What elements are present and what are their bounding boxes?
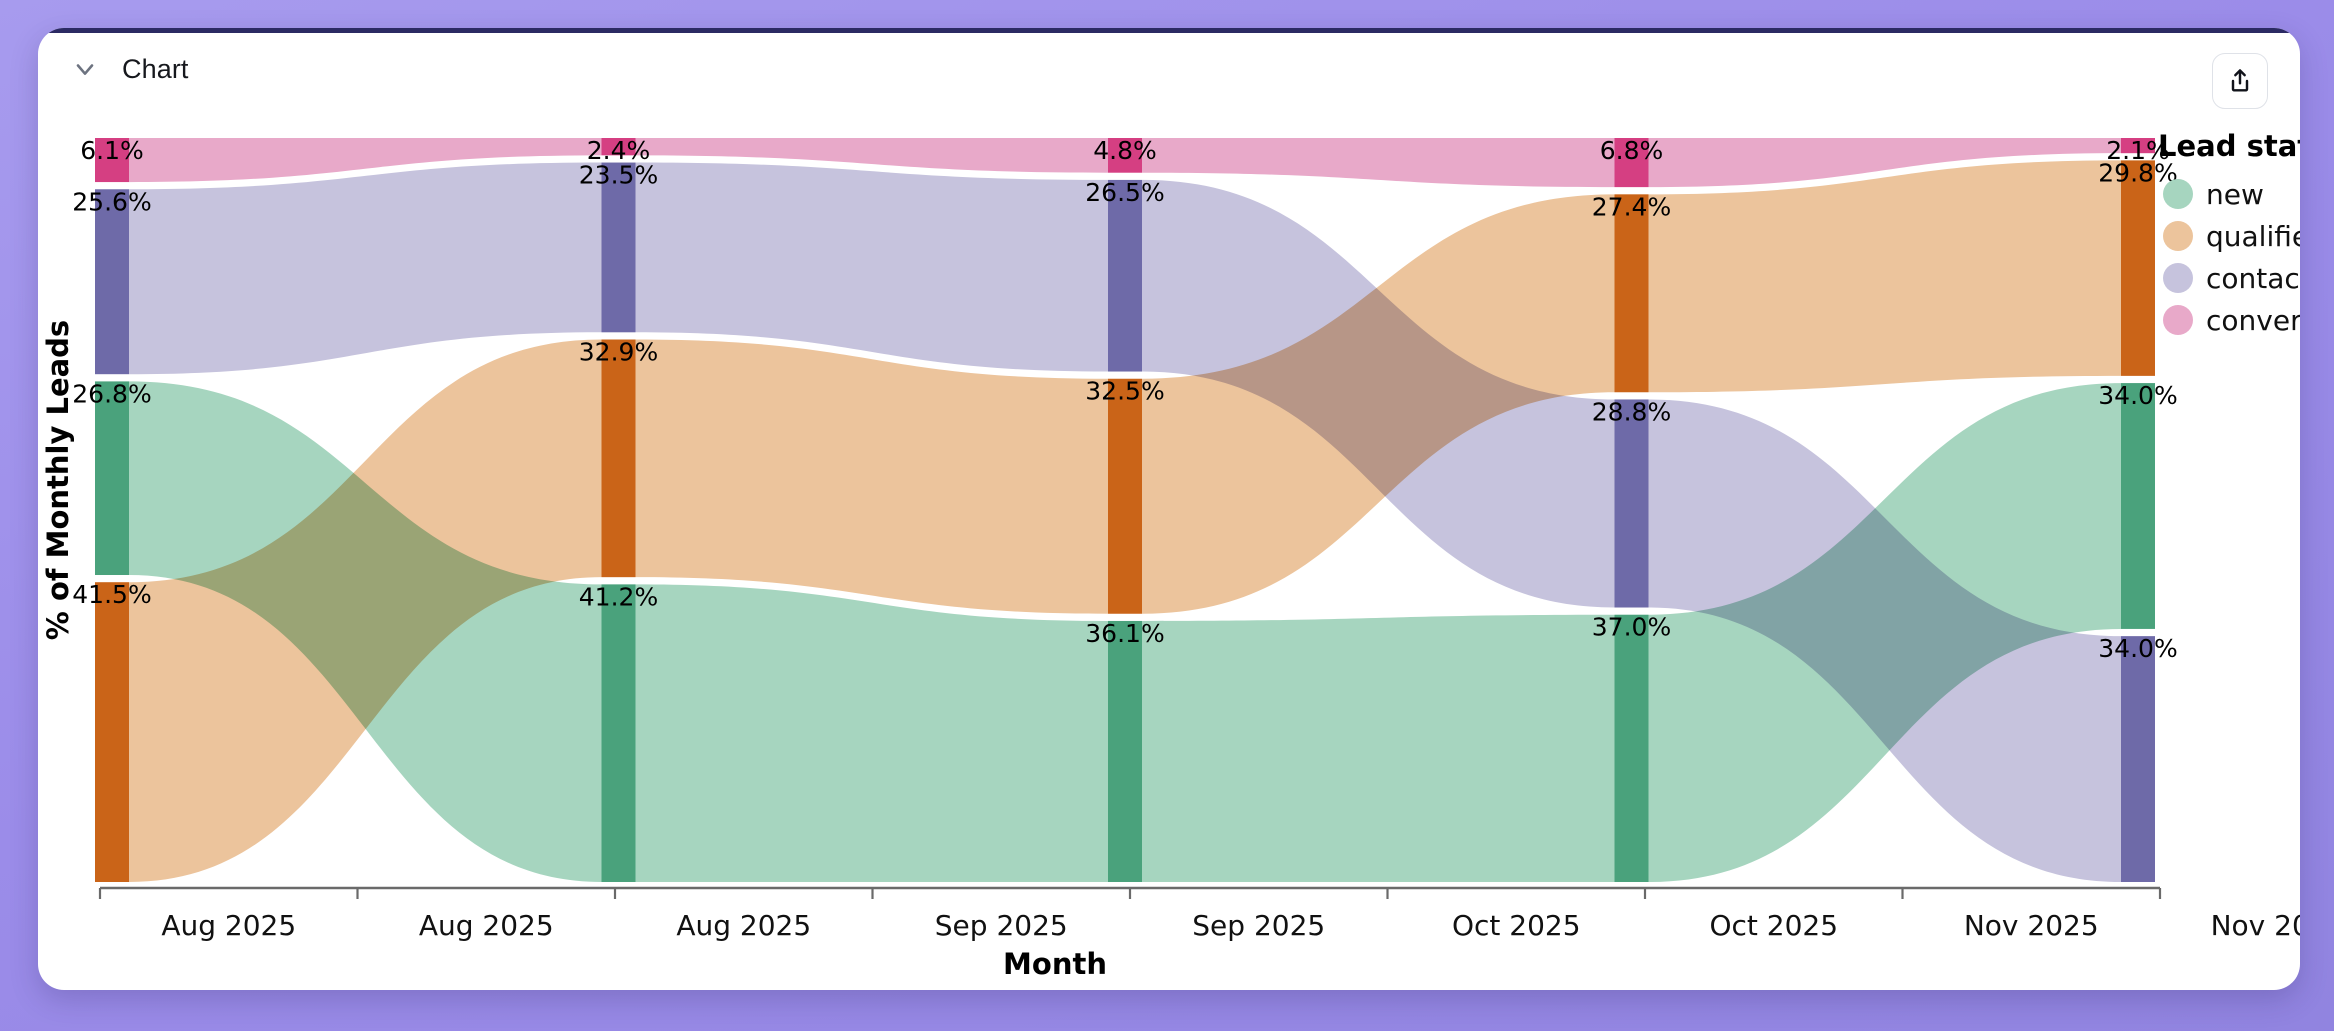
x-axis-tick-label: Sep 2025 bbox=[935, 909, 1068, 942]
legend-title: Lead status bbox=[2158, 129, 2300, 163]
sankey-node-qualified[interactable] bbox=[95, 582, 129, 882]
sankey-ribbon-new bbox=[1142, 615, 1615, 882]
node-value-label: 26.5% bbox=[1085, 178, 1164, 207]
node-value-label: 34.0% bbox=[2098, 634, 2177, 663]
sankey-chart: 6.1%25.6%26.8%41.5%2.4%23.5%32.9%41.2%4.… bbox=[38, 104, 2300, 990]
node-value-label: 41.5% bbox=[72, 580, 151, 609]
sankey-node-new[interactable] bbox=[602, 584, 636, 882]
x-axis-tick-label: Aug 2025 bbox=[419, 909, 554, 942]
node-value-label: 32.9% bbox=[579, 338, 658, 367]
legend-swatch-qualified[interactable] bbox=[2163, 221, 2193, 251]
node-value-label: 6.1% bbox=[80, 136, 144, 165]
node-value-label: 27.4% bbox=[1592, 192, 1671, 221]
sankey-ribbon-new bbox=[636, 584, 1109, 882]
chart-plot-area: 6.1%25.6%26.8%41.5%2.4%23.5%32.9%41.2%4.… bbox=[38, 104, 2300, 990]
card-header: Chart bbox=[38, 33, 2300, 105]
x-axis-tick-label: Oct 2025 bbox=[1452, 909, 1581, 942]
sankey-ribbon-contacted bbox=[636, 163, 1109, 372]
node-value-label: 34.0% bbox=[2098, 381, 2177, 410]
page-title: Chart bbox=[122, 54, 189, 85]
y-axis-title: % of Monthly Leads bbox=[41, 320, 75, 640]
x-axis-tick-label: Nov 2025 bbox=[2211, 909, 2300, 942]
sankey-ribbon-contacted bbox=[129, 163, 602, 375]
x-axis-title: Month bbox=[1003, 947, 1107, 981]
sankey-ribbon-qualified bbox=[636, 340, 1109, 614]
node-value-label: 26.8% bbox=[72, 379, 151, 408]
sankey-node-contacted[interactable] bbox=[2121, 636, 2155, 882]
sankey-node-contacted[interactable] bbox=[1615, 399, 1649, 607]
sankey-node-qualified[interactable] bbox=[602, 340, 636, 578]
sankey-node-qualified[interactable] bbox=[1108, 379, 1142, 614]
share-export-icon bbox=[2226, 67, 2254, 95]
sankey-node-new[interactable] bbox=[95, 381, 129, 575]
x-axis-tick-label: Sep 2025 bbox=[1192, 909, 1325, 942]
sankey-node-contacted[interactable] bbox=[95, 189, 129, 374]
legend-label-qualified[interactable]: qualified bbox=[2206, 220, 2300, 253]
legend-swatch-converted[interactable] bbox=[2163, 305, 2193, 335]
chart-legend: Lead statusnewqualifiedcontactedconverte… bbox=[2158, 129, 2300, 337]
sankey-node-new[interactable] bbox=[1615, 615, 1649, 882]
sankey-ribbon-converted bbox=[1142, 138, 1615, 187]
node-value-label: 23.5% bbox=[579, 161, 658, 190]
x-axis-tick-label: Aug 2025 bbox=[161, 909, 296, 942]
share-export-button[interactable] bbox=[2212, 53, 2268, 109]
chart-card: Chart 6.1%25.6%26.8%41.5%2.4%23.5%32.9%4… bbox=[38, 28, 2300, 990]
legend-swatch-contacted[interactable] bbox=[2163, 263, 2193, 293]
x-axis-tick-label: Nov 2025 bbox=[1964, 909, 2099, 942]
sankey-node-new[interactable] bbox=[2121, 383, 2155, 629]
legend-label-contacted[interactable]: contacted bbox=[2206, 262, 2300, 295]
sankey-node-qualified[interactable] bbox=[1615, 194, 1649, 392]
node-value-label: 37.0% bbox=[1592, 613, 1671, 642]
sankey-node-contacted[interactable] bbox=[1108, 180, 1142, 372]
node-value-label: 4.8% bbox=[1093, 136, 1157, 165]
x-axis-tick-label: Oct 2025 bbox=[1709, 909, 1838, 942]
legend-label-converted[interactable]: converted bbox=[2206, 304, 2300, 337]
chevron-down-icon[interactable] bbox=[70, 54, 100, 84]
node-value-label: 32.5% bbox=[1085, 377, 1164, 406]
node-value-label: 25.6% bbox=[72, 187, 151, 216]
y-axis-title-text: % of Monthly Leads bbox=[41, 320, 75, 640]
node-value-label: 36.1% bbox=[1085, 619, 1164, 648]
sankey-node-new[interactable] bbox=[1108, 621, 1142, 882]
x-axis: Aug 2025Aug 2025Aug 2025Sep 2025Sep 2025… bbox=[100, 888, 2300, 981]
x-axis-tick-label: Aug 2025 bbox=[676, 909, 811, 942]
legend-swatch-new[interactable] bbox=[2163, 179, 2193, 209]
sankey-node-qualified[interactable] bbox=[2121, 160, 2155, 375]
node-value-label: 28.8% bbox=[1592, 397, 1671, 426]
legend-label-new[interactable]: new bbox=[2206, 178, 2264, 211]
node-value-label: 6.8% bbox=[1600, 136, 1664, 165]
node-value-label: 41.2% bbox=[579, 582, 658, 611]
sankey-ribbon-qualified bbox=[1649, 160, 2122, 392]
